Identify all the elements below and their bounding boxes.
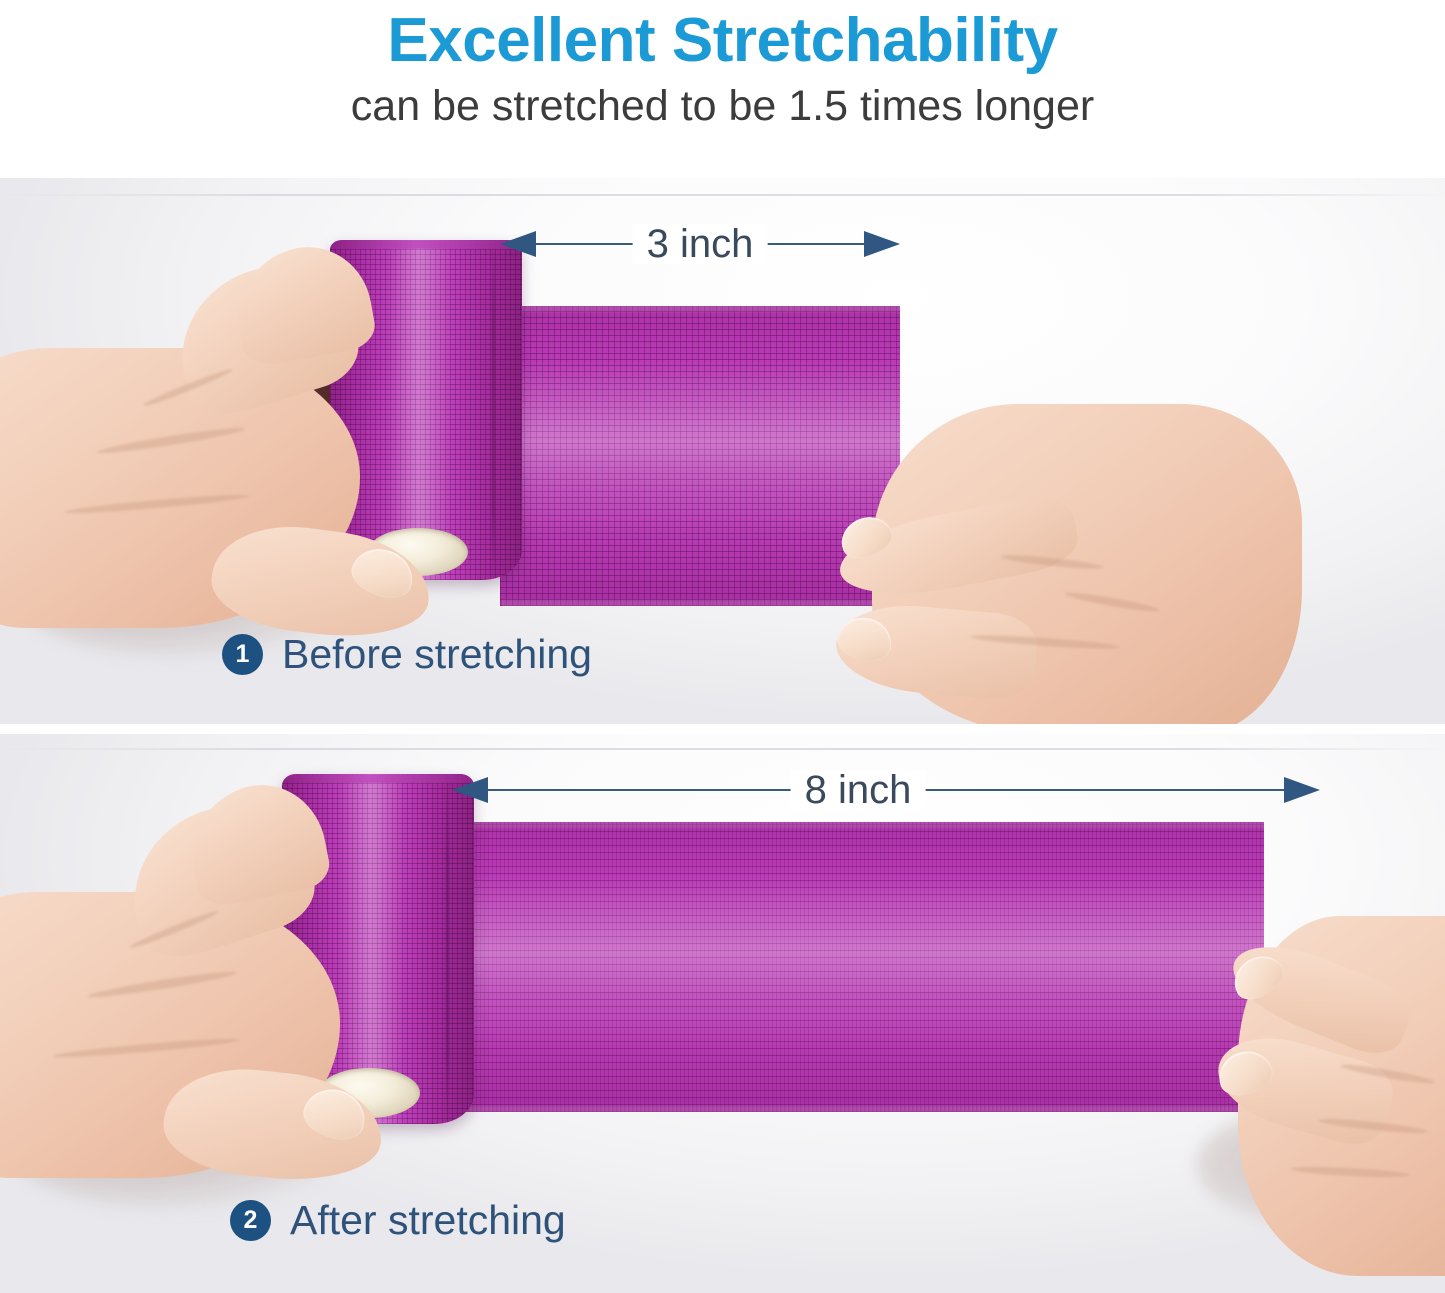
strip-fuzzy-edge-bottom bbox=[500, 600, 900, 606]
bandage-strip-stretched bbox=[452, 822, 1264, 1112]
strip-fuzzy-edge-top bbox=[452, 822, 1264, 828]
header: Excellent Stretchability can be stretche… bbox=[0, 0, 1445, 178]
step-after-stretching: 2 After stretching bbox=[230, 1200, 566, 1241]
arrow-left-icon bbox=[500, 231, 536, 257]
step-before-stretching: 1 Before stretching bbox=[222, 634, 592, 675]
backdrop-seam bbox=[0, 194, 1445, 196]
panel-before-stretching: 3 inch 1 Before stretching bbox=[0, 178, 1445, 724]
strip-highlight bbox=[500, 306, 900, 606]
arrow-left-icon bbox=[452, 777, 488, 803]
strip-fuzzy-edge-top bbox=[500, 306, 900, 312]
page-subtitle: can be stretched to be 1.5 times longer bbox=[0, 75, 1445, 130]
panel-after-stretching: 8 inch 2 After stretching bbox=[0, 734, 1445, 1293]
page-title: Excellent Stretchability bbox=[0, 0, 1445, 75]
arrow-right-icon bbox=[864, 231, 900, 257]
step-number-badge: 1 bbox=[222, 634, 263, 675]
roll-seam bbox=[492, 240, 495, 580]
step-caption: After stretching bbox=[290, 1200, 566, 1241]
measurement-8-inch: 8 inch bbox=[452, 770, 1320, 810]
arrow-right-icon bbox=[1284, 777, 1320, 803]
bandage-strip-unstretched bbox=[500, 306, 900, 606]
strip-fuzzy-edge-bottom bbox=[452, 1106, 1264, 1112]
step-number-badge: 2 bbox=[230, 1200, 271, 1241]
strip-highlight bbox=[452, 822, 1264, 1112]
measure-label: 8 inch bbox=[791, 770, 926, 810]
roll-seam bbox=[446, 774, 449, 1124]
measurement-3-inch: 3 inch bbox=[500, 224, 900, 264]
backdrop-seam bbox=[0, 748, 1445, 750]
step-caption: Before stretching bbox=[282, 634, 592, 675]
measure-label: 3 inch bbox=[633, 224, 768, 264]
